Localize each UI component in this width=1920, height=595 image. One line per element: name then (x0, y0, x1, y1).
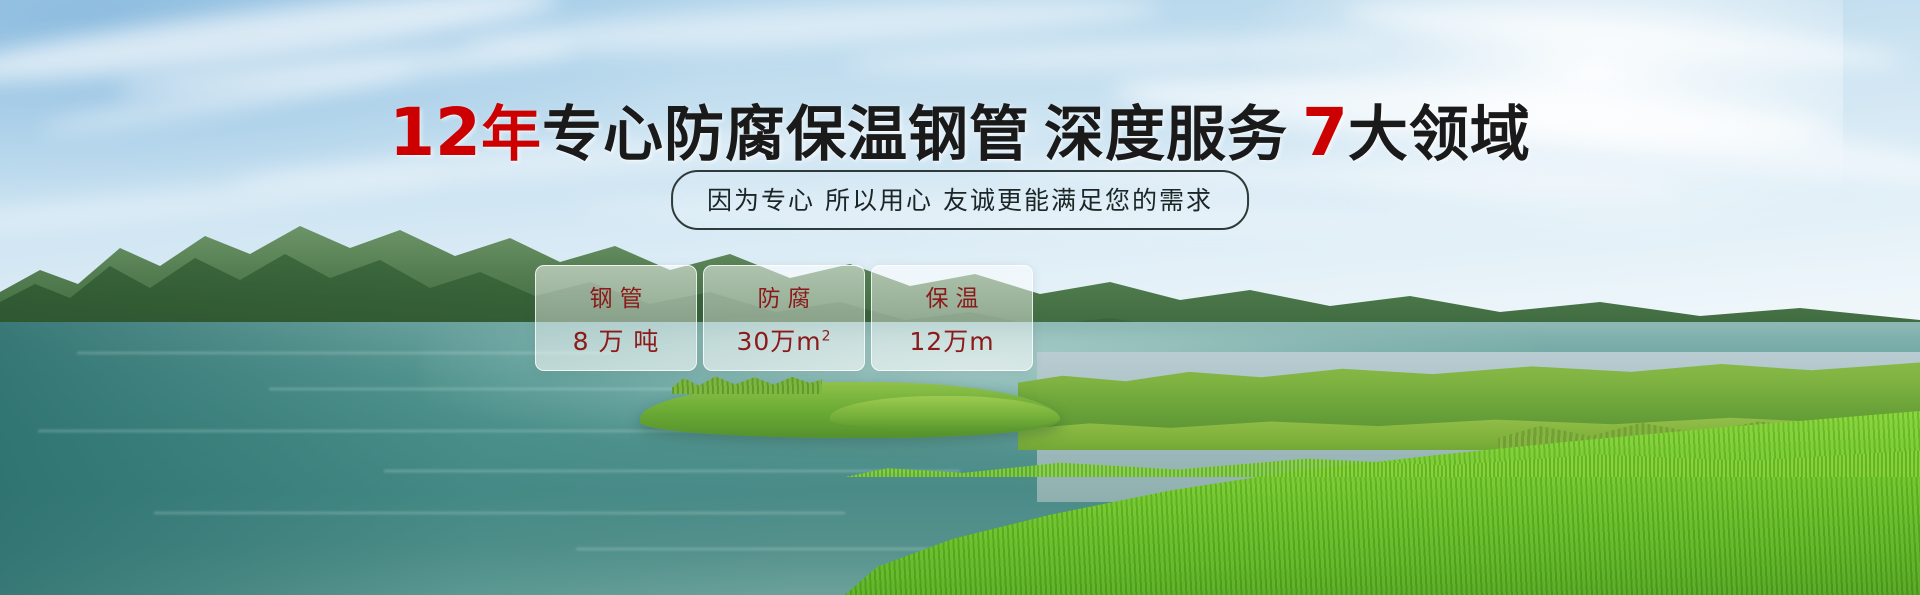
headline-years-number: 12 (389, 94, 481, 171)
stat-card-value: 8 万 吨 (573, 322, 660, 358)
banner-subtitle-pill: 因为专心 所以用心 友诚更能满足您的需求 (671, 170, 1249, 230)
headline-service-text: 深度服务 (1044, 100, 1288, 170)
banner-subtitle-text: 因为专心 所以用心 友诚更能满足您的需求 (707, 186, 1213, 215)
water-ripple (77, 352, 615, 354)
stat-card-steel-pipe: 钢管 8 万 吨 (535, 265, 697, 371)
stat-card-group: 钢管 8 万 吨 防腐 30万m2 保温 12万m (535, 265, 1033, 371)
headline-main-text: 专心防腐保温钢管 (542, 100, 1030, 170)
stat-card-insulation: 保温 12万m (871, 265, 1033, 371)
stat-card-value: 30万m2 (736, 322, 831, 358)
banner-headline: 12年专心防腐保温钢管深度服务7大领域 (0, 86, 1920, 173)
grass-island-secondary (830, 396, 1060, 430)
headline-years-unit: 年 (481, 100, 542, 170)
headline-fields-text: 大领域 (1348, 100, 1531, 170)
headline-fields-number: 7 (1302, 94, 1348, 171)
stat-card-label: 防腐 (751, 279, 818, 313)
stat-card-value-superscript: 2 (822, 328, 832, 344)
stat-card-label: 保温 (919, 279, 986, 313)
hero-banner: 12年专心防腐保温钢管深度服务7大领域 因为专心 所以用心 友诚更能满足您的需求… (0, 0, 1920, 595)
stat-card-value: 12万m (909, 322, 994, 358)
water-ripple (154, 512, 845, 514)
stat-card-label: 钢管 (583, 279, 650, 313)
stat-card-anticorrosion: 防腐 30万m2 (703, 265, 865, 371)
